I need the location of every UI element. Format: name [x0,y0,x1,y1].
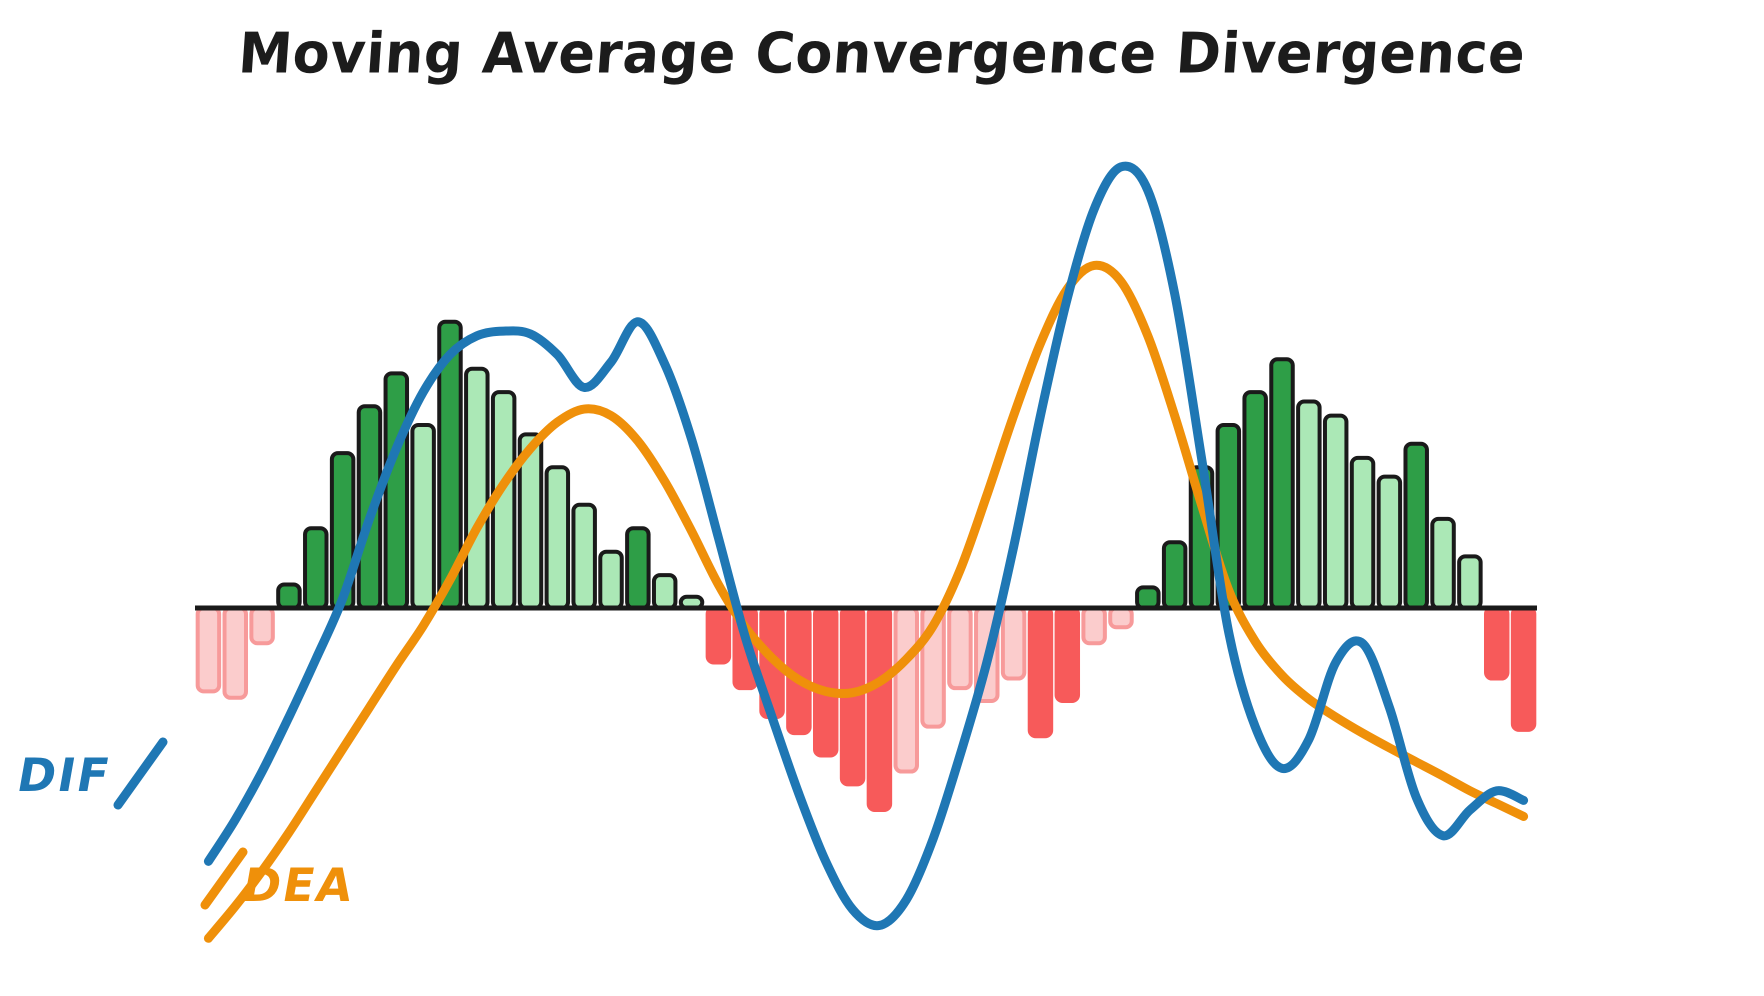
histogram-bar [708,608,729,663]
histogram-bar [1003,608,1024,679]
histogram-bar [1352,458,1373,608]
histogram-bar [1271,359,1292,608]
histogram-bar [1110,608,1131,627]
histogram-bar [1244,392,1265,608]
histogram-bar [1513,608,1534,730]
histogram-bar [225,608,246,698]
histogram-bar [1459,556,1480,608]
histogram-bar [627,528,648,608]
histogram-bar [412,425,433,608]
histogram-bar [815,608,836,756]
dif-label-leader-line [118,742,163,805]
dea-series-label: DEA [238,858,359,912]
histogram-bar [1486,608,1507,679]
histogram-bar [1379,477,1400,608]
histogram-bar [654,575,675,608]
histogram-bar [1164,542,1185,608]
histogram-bar [1083,608,1104,643]
histogram-bar [1030,608,1051,736]
macd-chart: Moving Average Convergence Divergence DI… [0,0,1764,996]
histogram-bar [386,373,407,608]
histogram-bar [305,528,326,608]
histogram-bar [251,608,272,643]
dif-series-label: DIF [13,748,115,802]
histogram-bars [198,322,1535,810]
histogram-bar [1298,402,1319,608]
histogram-bar [869,608,890,810]
histogram-bar [600,552,621,608]
histogram-bar [949,608,970,688]
histogram-bar [198,608,219,691]
histogram-bar [1057,608,1078,701]
histogram-bar [278,585,299,608]
histogram-bar [1432,519,1453,608]
histogram-bar [896,608,917,772]
histogram-bar [573,505,594,608]
chart-plot-area [0,0,1764,996]
histogram-bar [547,467,568,608]
histogram-bar [466,369,487,608]
histogram-bar [1137,587,1158,608]
histogram-bar [1325,416,1346,608]
histogram-bar [1405,444,1426,608]
